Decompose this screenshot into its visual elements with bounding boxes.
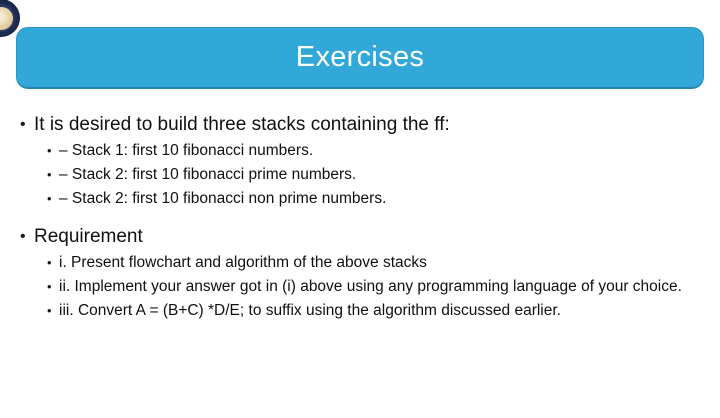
bullet-level2-text: i. Present flowchart and algorithm of th…	[59, 251, 427, 275]
sub-bullet-group: • – Stack 1: first 10 fibonacci numbers.…	[0, 139, 720, 211]
bullet-level2: • i. Present flowchart and algorithm of …	[0, 251, 720, 275]
sub-bullet-group: • i. Present flowchart and algorithm of …	[0, 251, 720, 323]
bullet-level2-text: – Stack 2: first 10 fibonacci non prime …	[59, 187, 386, 211]
bullet-level2: • ii. Implement your answer got in (i) a…	[0, 275, 720, 299]
bullet-level2-text: ii. Implement your answer got in (i) abo…	[59, 275, 682, 299]
bullet-marker-level2: •	[47, 139, 59, 163]
bullet-level2: • – Stack 1: first 10 fibonacci numbers.	[0, 139, 720, 163]
bullet-level1: • It is desired to build three stacks co…	[0, 112, 720, 137]
bullet-level2-text: iii. Convert A = (B+C) *D/E; to suffix u…	[59, 299, 561, 323]
slide-title: Exercises	[296, 43, 424, 72]
slide-body: • It is desired to build three stacks co…	[0, 112, 720, 327]
bullet-level2: • – Stack 2: first 10 fibonacci prime nu…	[0, 163, 720, 187]
bullet-level1-text: Requirement	[34, 224, 143, 249]
bullet-level2: • iii. Convert A = (B+C) *D/E; to suffix…	[0, 299, 720, 323]
bullet-marker-level2: •	[47, 163, 59, 187]
block-spacer	[0, 215, 720, 224]
bullet-marker-level1: •	[20, 112, 34, 137]
slide-title-banner: Exercises	[16, 27, 704, 89]
bullet-marker-level2: •	[47, 251, 59, 275]
bullet-marker-level2: •	[47, 275, 59, 299]
bullet-level2: • – Stack 2: first 10 fibonacci non prim…	[0, 187, 720, 211]
bullet-level1-text: It is desired to build three stacks cont…	[34, 112, 450, 137]
bullet-marker-level2: •	[47, 299, 59, 323]
slide-canvas: Exercises • It is desired to build three…	[0, 0, 720, 418]
bullet-level2-text: – Stack 2: first 10 fibonacci prime numb…	[59, 163, 356, 187]
bullet-level2-text: – Stack 1: first 10 fibonacci numbers.	[59, 139, 313, 163]
bullet-marker-level1: •	[20, 224, 34, 249]
bullet-marker-level2: •	[47, 187, 59, 211]
circular-seal-emblem-icon	[0, 0, 19, 36]
bullet-level1: • Requirement	[0, 224, 720, 249]
